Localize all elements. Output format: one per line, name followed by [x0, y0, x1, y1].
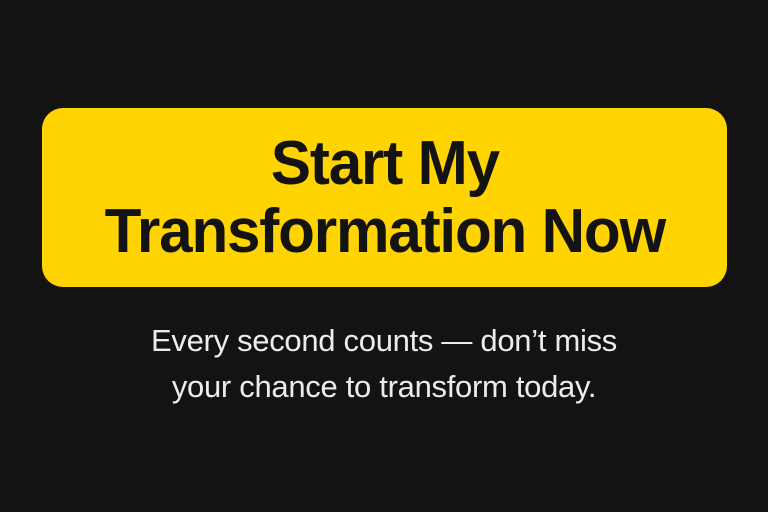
cta-subtitle-line-1: Every second counts — don’t miss — [0, 318, 768, 364]
cta-subtitle-line-2: your chance to transform today. — [0, 364, 768, 410]
cta-subtitle: Every second counts — don’t miss your ch… — [0, 318, 768, 410]
cta-button-label-line-2: Transformation Now — [104, 198, 664, 266]
cta-button-label: Start My Transformation Now — [104, 130, 664, 266]
cta-screen: Start My Transformation Now Every second… — [0, 0, 768, 512]
start-my-transformation-button[interactable]: Start My Transformation Now — [42, 108, 727, 287]
cta-content-stack: Start My Transformation Now Every second… — [0, 0, 768, 512]
cta-button-label-line-1: Start My — [104, 130, 664, 198]
